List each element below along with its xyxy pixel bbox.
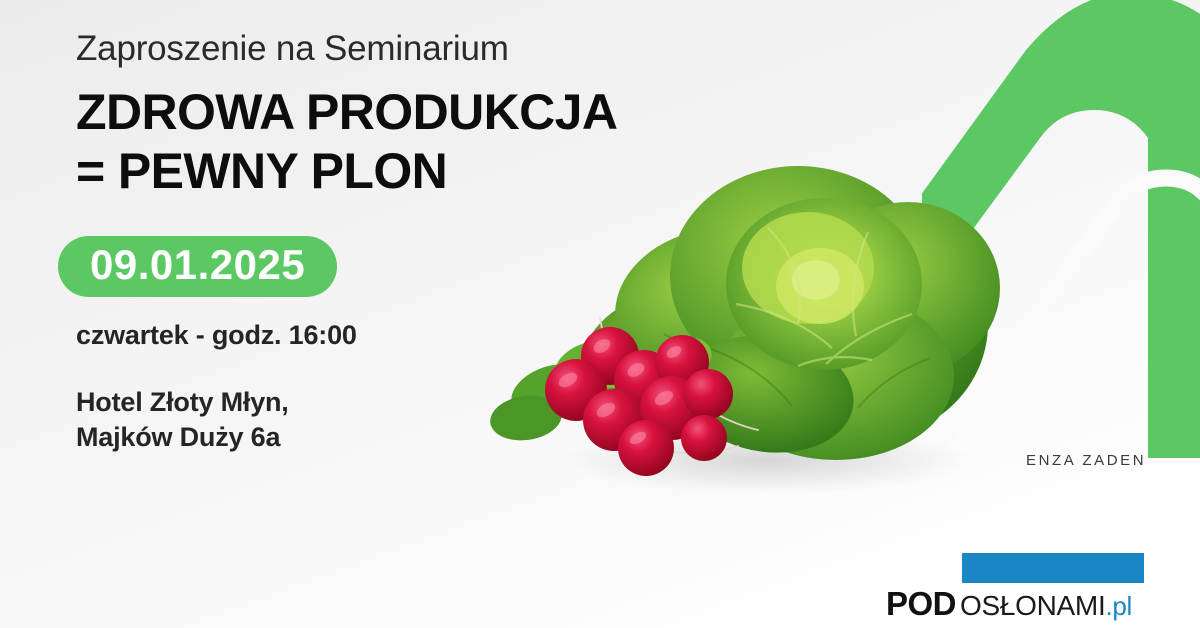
venue-line-2: Majków Duży 6a	[76, 420, 289, 455]
pod-oslonami-word-light: OSŁONAMI	[960, 590, 1105, 622]
event-date-badge: 09.01.2025	[58, 236, 337, 297]
headline-line-1: ZDROWA PRODUKCJA	[76, 83, 676, 142]
kicker-text: Zaproszenie na Seminarium	[76, 28, 676, 69]
venue-line-1: Hotel Złoty Młyn,	[76, 385, 289, 420]
headline-line-2: = PEWNY PLON	[76, 142, 676, 201]
seminar-invitation-banner: Zaproszenie na Seminarium ZDROWA PRODUKC…	[0, 0, 1200, 628]
pod-oslonami-logo: POD OSŁONAMI .pl	[886, 585, 1132, 623]
pod-oslonami-word-strong: POD	[886, 585, 956, 623]
event-venue: Hotel Złoty Młyn, Majków Duży 6a	[76, 385, 289, 454]
enza-zaden-wordmark: ENZA ZADEN	[1026, 452, 1146, 469]
pod-oslonami-blue-bar	[962, 553, 1144, 583]
event-weekday-time: czwartek - godz. 16:00	[76, 320, 357, 351]
pod-oslonami-tld: .pl	[1105, 591, 1132, 622]
headline-block: Zaproszenie na Seminarium ZDROWA PRODUKC…	[76, 28, 676, 200]
